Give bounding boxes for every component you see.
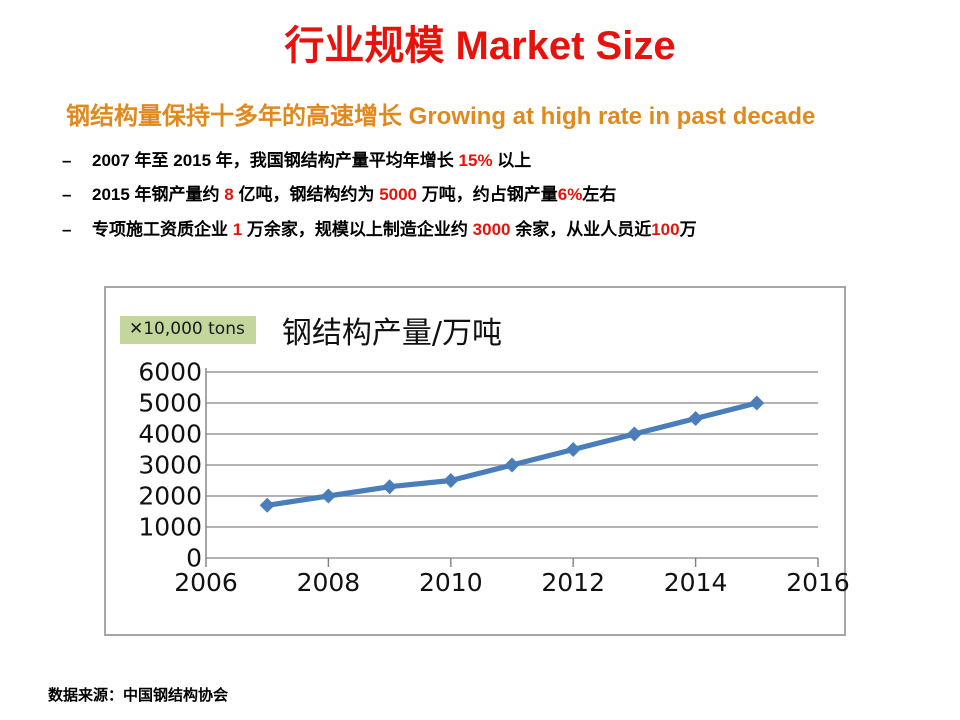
plain-text: 以上 xyxy=(493,151,532,170)
highlight-value: 6% xyxy=(558,185,583,204)
highlight-value: 100 xyxy=(651,220,679,239)
x-axis-tick-label: 2010 xyxy=(419,570,483,595)
x-axis-tick-label: 2016 xyxy=(786,570,850,595)
highlight-value: 15% xyxy=(459,151,493,170)
data-point xyxy=(443,473,458,488)
chart-header: ✕10,000 tons 钢结构产量/万吨 xyxy=(120,308,502,352)
chart-container: ✕10,000 tons 钢结构产量/万吨 600050004000300020… xyxy=(104,286,846,636)
unit-badge: ✕10,000 tons xyxy=(120,316,256,344)
bullet-list: – 2007 年至 2015 年，我国钢结构产量平均年增长 15% 以上 – 2… xyxy=(62,150,942,253)
data-point xyxy=(627,427,642,442)
plain-text: 余家，从业人员近 xyxy=(510,220,651,239)
plain-text: 万吨，约占钢产量 xyxy=(417,185,558,204)
data-point xyxy=(382,479,397,494)
plain-text: 亿吨，钢结构约为 xyxy=(234,185,379,204)
chart-title: 钢结构产量/万吨 xyxy=(282,308,502,352)
data-point xyxy=(321,489,336,504)
bullet-marker-icon: – xyxy=(62,219,92,240)
data-point xyxy=(260,498,275,513)
list-item: – 2007 年至 2015 年，我国钢结构产量平均年增长 15% 以上 xyxy=(62,150,942,171)
x-axis-tick-label: 2012 xyxy=(541,570,605,595)
list-item: – 专项施工资质企业 1 万余家，规模以上制造企业约 3000 余家，从业人员近… xyxy=(62,219,942,240)
page-title: 行业规模 Market Size xyxy=(0,24,960,68)
x-axis-tick-label: 2006 xyxy=(174,570,238,595)
plain-text: 左右 xyxy=(582,185,616,204)
data-line xyxy=(267,403,757,505)
plain-text: 2015 年钢产量约 xyxy=(92,185,224,204)
plain-text: 万 xyxy=(680,220,697,239)
data-point xyxy=(688,411,703,426)
x-axis-tick-label: 2008 xyxy=(297,570,361,595)
plot-area: 6000500040003000200010000 20062008201020… xyxy=(106,364,848,638)
section-subtitle: 钢结构量保持十多年的高速增长 Growing at high rate in p… xyxy=(66,103,946,131)
bullet-marker-icon: – xyxy=(62,150,92,171)
bullet-text-1: 2015 年钢产量约 8 亿吨，钢结构约为 5000 万吨，约占钢产量6%左右 xyxy=(92,184,616,205)
list-item: – 2015 年钢产量约 8 亿吨，钢结构约为 5000 万吨，约占钢产量6%左… xyxy=(62,184,942,205)
highlight-value: 3000 xyxy=(473,220,511,239)
bullet-text-0: 2007 年至 2015 年，我国钢结构产量平均年增长 15% 以上 xyxy=(92,150,531,171)
highlight-value: 8 xyxy=(224,185,233,204)
data-point xyxy=(505,458,520,473)
plain-text: 专项施工资质企业 xyxy=(92,220,233,239)
highlight-value: 1 xyxy=(233,220,242,239)
line-chart-svg xyxy=(106,364,848,574)
source-note: 数据来源：中国钢结构协会 xyxy=(48,684,228,705)
x-axis-labels: 200620082010201220142016 xyxy=(106,570,848,614)
plain-text: 万余家，规模以上制造企业约 xyxy=(242,220,472,239)
x-axis-tick-label: 2014 xyxy=(664,570,728,595)
bullet-text-2: 专项施工资质企业 1 万余家，规模以上制造企业约 3000 余家，从业人员近10… xyxy=(92,219,697,240)
bullet-marker-icon: – xyxy=(62,184,92,205)
highlight-value: 5000 xyxy=(379,185,417,204)
plain-text: 2007 年至 2015 年，我国钢结构产量平均年增长 xyxy=(92,151,459,170)
data-point xyxy=(566,442,581,457)
data-point xyxy=(749,396,764,411)
